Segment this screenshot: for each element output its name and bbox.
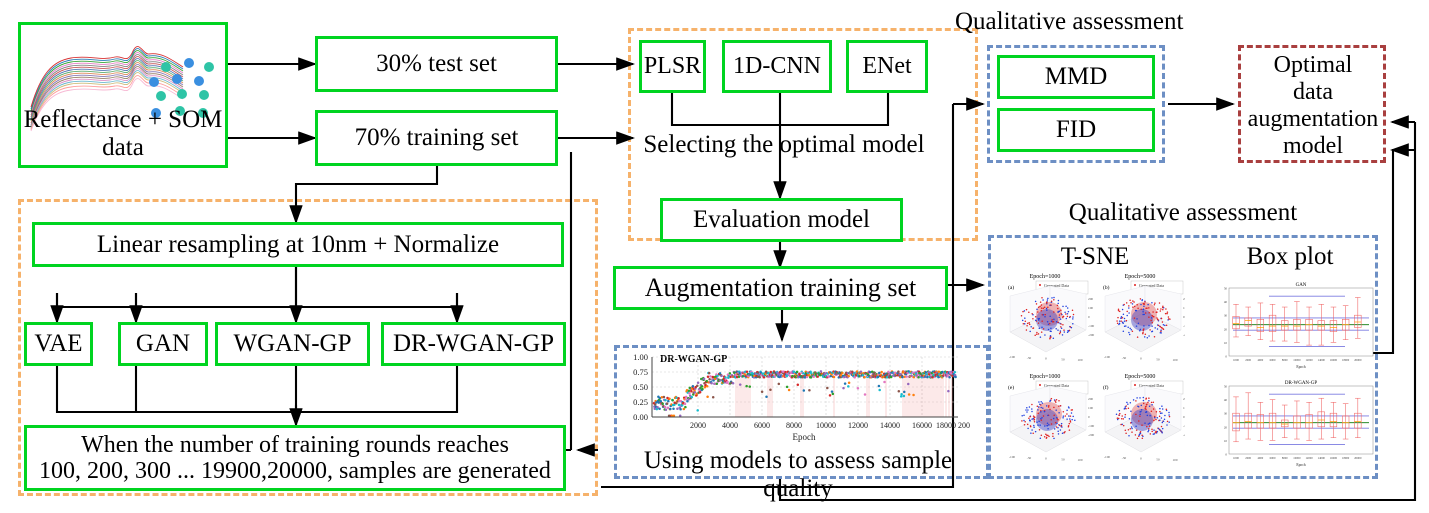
tsne-ztick: -200	[1088, 333, 1095, 337]
quality-scatter-chart: 1.00 0.75 0.50 0.25 0.00 DR-WGAN-GP	[618, 348, 970, 446]
boxplot-xtick: 18000	[1342, 456, 1350, 460]
boxplot-xtick: 10000	[1293, 358, 1301, 362]
vae-box[interactable]: VAE	[24, 322, 93, 366]
test-set-label: 30% test set	[376, 50, 497, 78]
boxplot-xtick: 8000	[1282, 358, 1288, 362]
boxplot-panel-grid: GAN0102030405010002000400060008000100001…	[1213, 278, 1378, 473]
boxplot-ytick: 40	[1224, 398, 1228, 402]
boxplot-xtick: 20000	[1354, 358, 1362, 362]
boxplot-frame	[1229, 386, 1373, 454]
boxplot-xtick: 1000	[1233, 456, 1239, 460]
svg-text:200: 200	[958, 421, 970, 430]
boxplot-title: GAN	[1296, 283, 1307, 288]
tsne-epoch-title: Epoch=5000	[1125, 274, 1156, 280]
tsne-xtick: -100	[1104, 455, 1111, 459]
boxplot-ytick: 50	[1224, 385, 1228, 389]
boxplot-xtick: 8000	[1282, 456, 1288, 460]
boxplot-title-text: Box plot	[1247, 243, 1334, 270]
generated-samples-box[interactable]: When the number of training rounds reach…	[24, 425, 566, 491]
resampling-label: Linear resampling at 10nm + Normalize	[97, 231, 499, 259]
boxplot-xtick: 4000	[1257, 358, 1263, 362]
boxplot-xtick: 20000	[1354, 456, 1362, 460]
svg-text:Epoch: Epoch	[793, 432, 816, 442]
boxplot-ytick: 20	[1224, 327, 1228, 331]
tsne-xtick: 0	[1045, 457, 1047, 461]
tsne-xtick: -50	[1122, 456, 1127, 460]
boxplot-xtick: 12000	[1305, 358, 1313, 362]
tsne-xtick: -50	[1027, 356, 1032, 360]
tsne-panel-grid: Epoch=1000(a)Generated DataReal Data-100…	[1000, 270, 1185, 470]
tsne-title-label: T-SNE	[1005, 243, 1185, 271]
assess-sample-quality-caption: Using models to assess sample quality	[618, 447, 978, 502]
tsne-xtick: 0	[1045, 357, 1047, 361]
tsne-ztick: 200	[1088, 397, 1093, 401]
ytick-075: 0.75	[633, 367, 648, 377]
optimal-model-label-block: Optimal data augmentation model	[1243, 52, 1383, 160]
tsne-epoch-title: Epoch=1000	[1030, 374, 1061, 380]
tsne-ztick: -100	[1183, 424, 1185, 428]
svg-text:12000: 12000	[848, 421, 868, 430]
evaluation-model-box[interactable]: Evaluation model	[660, 198, 903, 242]
tsne-ztick: -200	[1088, 433, 1095, 437]
tsne-xtick: 50	[1156, 457, 1160, 461]
boxplot-xtick: 16000	[1330, 358, 1338, 362]
boxplot-ytick: 40	[1224, 300, 1228, 304]
dr-wgan-gp-box[interactable]: DR-WGAN-GP	[381, 322, 566, 366]
svg-text:4000: 4000	[722, 421, 738, 430]
plsr-label: PLSR	[644, 53, 701, 79]
boxplot-title: DR-WGAN-GP	[1285, 381, 1317, 386]
optimal-line-4: model	[1243, 133, 1383, 160]
selecting-optimal-model-label: Selecting the optimal model	[639, 131, 929, 159]
tsne-epoch-title: Epoch=5000	[1125, 374, 1156, 380]
tsne-epoch-title: Epoch=1000	[1030, 274, 1061, 280]
plsr-box[interactable]: PLSR	[639, 40, 706, 93]
tsne-xtick: 0	[1140, 357, 1142, 361]
source-data-label: Reflectance + SOM data	[21, 106, 225, 161]
tsne-ztick: -100	[1088, 324, 1095, 328]
tsne-real-cluster	[1036, 409, 1058, 431]
boxplot-ytick: 0	[1225, 453, 1227, 457]
tsne-xtick: 100	[1172, 358, 1177, 362]
optimal-line-1: Optimal	[1243, 52, 1383, 79]
boxplot-xtick: 16000	[1330, 456, 1338, 460]
tsne-xtick: 50	[1156, 357, 1160, 361]
tsne-ztick: 0	[1183, 415, 1185, 419]
mmd-label: MMD	[1045, 63, 1108, 91]
tsne-ztick: 100	[1088, 406, 1093, 410]
tsne-ztick: 100	[1183, 306, 1185, 310]
rounds-line-1: When the number of training rounds reach…	[81, 432, 509, 458]
boxplot-xtick: 12000	[1305, 456, 1313, 460]
enet-box[interactable]: ENet	[846, 40, 928, 93]
tsne-ztick: -100	[1183, 324, 1185, 328]
svg-text:14000: 14000	[880, 421, 900, 430]
flowchart-canvas: Reflectance + SOM data 30% test set 70% …	[0, 0, 1429, 513]
boxplot-ytick: 20	[1224, 425, 1228, 429]
svg-text:10000: 10000	[816, 421, 836, 430]
mmd-box[interactable]: MMD	[997, 55, 1155, 99]
tsne-ztick: 100	[1183, 406, 1185, 410]
wgan-gp-label: WGAN-GP	[233, 330, 351, 358]
tsne-xtick: 50	[1061, 457, 1065, 461]
boxplot-ytick: 10	[1224, 439, 1228, 443]
tsne-ztick: 0	[1088, 415, 1090, 419]
test-set-box[interactable]: 30% test set	[315, 36, 558, 92]
boxplot-xlabel: Epoch	[1296, 365, 1305, 369]
gan-box[interactable]: GAN	[118, 322, 208, 366]
dr-wgan-gp-label: DR-WGAN-GP	[393, 330, 554, 358]
ytick-050: 0.50	[633, 382, 648, 392]
boxplot-ytick: 50	[1224, 287, 1228, 291]
boxplot-xtick: 6000	[1270, 456, 1276, 460]
tsne-ztick: 200	[1183, 297, 1185, 301]
tsne-panel-letter: (f)	[1103, 384, 1109, 391]
svg-text:18000: 18000	[936, 421, 956, 430]
scatter-series-title: DR-WGAN-GP	[660, 354, 727, 365]
ytick-025: 0.25	[633, 397, 648, 407]
tsne-xtick: -100	[1009, 455, 1016, 459]
optimal-line-3: augmentation	[1243, 106, 1383, 133]
boxplot-xtick: 2000	[1245, 456, 1251, 460]
tsne-xtick: 100	[1172, 458, 1177, 462]
boxplot-xtick: 14000	[1318, 358, 1326, 362]
svg-text:8000: 8000	[786, 421, 802, 430]
tsne-panel-letter: (b)	[1103, 284, 1110, 291]
augmentation-training-set-box[interactable]: Augmentation training set	[613, 266, 948, 310]
training-set-box[interactable]: 70% training set	[315, 110, 558, 166]
tsne-ztick: -200	[1183, 433, 1185, 437]
cnn-box[interactable]: 1D-CNN	[722, 40, 832, 93]
boxplot-ytick: 10	[1224, 341, 1228, 345]
tsne-xtick: 0	[1140, 457, 1142, 461]
tsne-xtick: 100	[1077, 458, 1082, 462]
boxplot-xtick: 6000	[1270, 358, 1276, 362]
qualitative-assessment-bottom-label: Qualitative assessment	[988, 199, 1378, 227]
boxplot-xtick: 1000	[1233, 358, 1239, 362]
boxplot-xtick: 14000	[1318, 456, 1326, 460]
boxplot-frame	[1229, 288, 1373, 356]
tsne-xtick: -50	[1122, 356, 1127, 360]
rounds-line-2: 100, 200, 300 ... 19900,20000, samples a…	[39, 458, 551, 484]
optimal-line-2: data	[1243, 79, 1383, 106]
svg-text:16000: 16000	[912, 421, 932, 430]
ytick-100: 1.00	[633, 352, 648, 362]
boxplot-ytick: 30	[1224, 412, 1228, 416]
tsne-xtick: -100	[1104, 355, 1111, 359]
boxplot-xtick: 18000	[1342, 358, 1350, 362]
tsne-xtick: -100	[1009, 355, 1016, 359]
wgan-gp-box[interactable]: WGAN-GP	[215, 322, 370, 366]
svg-text:6000: 6000	[754, 421, 770, 430]
boxplot-xtick: 4000	[1257, 456, 1263, 460]
boxplot-ytick: 0	[1225, 355, 1227, 359]
boxplot-title-label: Box plot	[1205, 243, 1375, 271]
fid-box[interactable]: FID	[997, 108, 1155, 152]
fid-label: FID	[1056, 116, 1096, 144]
tsne-xtick: -50	[1027, 456, 1032, 460]
tsne-ztick: 0	[1183, 315, 1185, 319]
ytick-000: 0.00	[633, 412, 648, 422]
boxplot-xlabel: Epoch	[1296, 463, 1305, 467]
augmentation-training-set-label: Augmentation training set	[645, 274, 917, 303]
tsne-ztick: -200	[1183, 333, 1185, 337]
gan-label: GAN	[136, 330, 190, 358]
enet-label: ENet	[862, 53, 911, 79]
tsne-title-text: T-SNE	[1061, 243, 1130, 270]
tsne-ztick: -100	[1088, 424, 1095, 428]
boxplot-xtick: 10000	[1293, 456, 1301, 460]
tsne-ztick: 100	[1088, 306, 1093, 310]
tsne-ztick: 200	[1088, 297, 1093, 301]
tsne-xtick: 50	[1061, 357, 1065, 361]
boxplot-xtick: 2000	[1245, 358, 1251, 362]
boxplot-ytick: 30	[1224, 314, 1228, 318]
tsne-panel-letter: (a)	[1008, 284, 1014, 291]
qualitative-assessment-top-label: Qualitative assessment	[955, 8, 1245, 36]
svg-text:2000: 2000	[690, 421, 706, 430]
source-data-panel: Reflectance + SOM data	[18, 22, 228, 168]
evaluation-model-label: Evaluation model	[693, 206, 870, 234]
cnn-label: 1D-CNN	[733, 53, 821, 79]
tsne-ztick: 200	[1183, 397, 1185, 401]
tsne-xtick: 100	[1077, 358, 1082, 362]
tsne-real-cluster	[1131, 409, 1153, 431]
tsne-panel-letter: (e)	[1008, 384, 1014, 391]
vae-label: VAE	[34, 330, 82, 358]
resampling-box[interactable]: Linear resampling at 10nm + Normalize	[32, 222, 564, 267]
tsne-ztick: 0	[1088, 315, 1090, 319]
training-set-label: 70% training set	[355, 124, 519, 152]
